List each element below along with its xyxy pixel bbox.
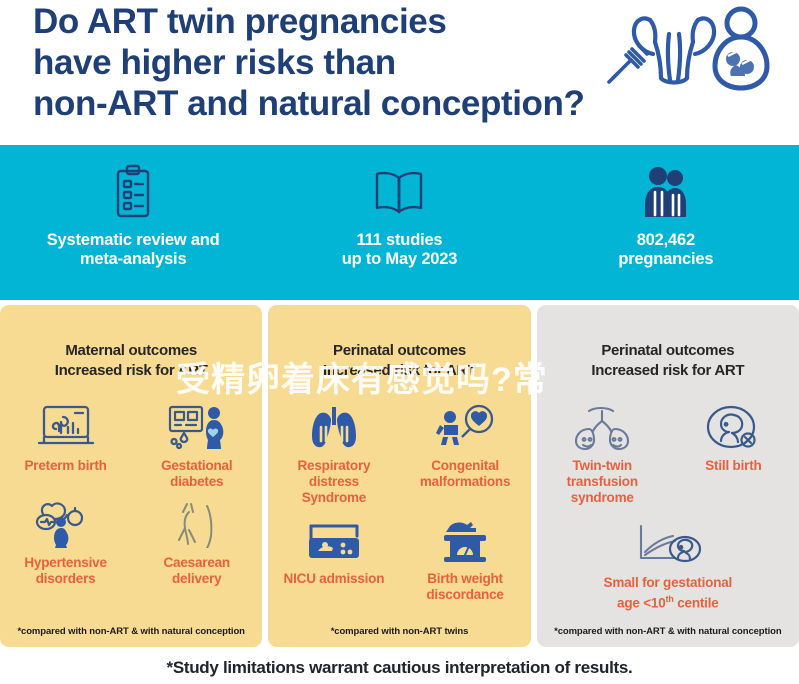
clipboard-checklist-icon	[111, 163, 155, 221]
outcome-label: Small for gestational age <10th centile	[604, 575, 733, 612]
blood-pressure-pregnant-icon	[33, 496, 99, 548]
baby-heart-magnifier-icon	[434, 399, 496, 451]
outcome-label: Birth weight discordance	[426, 571, 503, 603]
header-icon-group	[595, 4, 775, 94]
outcome-label: Respiratory distress Syndrome	[272, 458, 395, 506]
outcome-label: Congenital malformations	[420, 458, 510, 490]
stillbirth-icon	[704, 399, 762, 451]
two-people-icon	[642, 163, 690, 221]
outcome-label: Gestational diabetes	[161, 458, 232, 490]
outcome-label: Preterm birth	[24, 458, 106, 474]
panel-maternal-outcomes: Maternal outcomes Increased risk for ART	[0, 305, 262, 647]
panel-perinatal-outcomes-twins: Perinatal outcomes Increased risk for AR…	[268, 305, 530, 647]
stat-number-of-studies: 111 studies up to May 2023	[266, 145, 532, 269]
growth-chart-fetus-icon	[625, 516, 711, 568]
outcome-item-caesarean-delivery: Caesarean delivery	[131, 496, 262, 587]
outcome-label: Still birth	[705, 458, 761, 474]
outcome-label: Twin-twin transfusion syndrome	[567, 458, 638, 506]
incubator-icon	[303, 512, 365, 564]
stat-label: 802,462 pregnancies	[618, 231, 713, 269]
outcome-item-respiratory-distress: Respiratory distress Syndrome	[268, 399, 399, 506]
stat-label: Systematic review and meta-analysis	[47, 231, 220, 269]
stat-systematic-review: Systematic review and meta-analysis	[0, 145, 266, 269]
outcome-item-small-for-gestational-age: Small for gestational age <10th centile	[537, 516, 799, 612]
twin-fetuses-placenta-icon	[567, 399, 637, 451]
outcome-label: Hypertensive disorders	[24, 555, 106, 587]
study-limitations-note: *Study limitations warrant cautious inte…	[167, 658, 633, 678]
pregnant-woman-silhouette	[206, 407, 223, 449]
open-book-icon	[373, 163, 425, 221]
outcome-item-nicu-admission: NICU admission	[268, 512, 399, 603]
stat-label: 111 studies up to May 2023	[342, 231, 458, 269]
panel-item-grid: Twin-twin transfusion syndrome	[537, 399, 799, 506]
outcome-label: Caesarean delivery	[163, 555, 230, 587]
panel-header: Perinatal outcomes Increased risk for AR…	[323, 341, 476, 381]
header-banner: Do ART twin pregnancies have higher risk…	[0, 0, 799, 145]
outcome-item-congenital-malformations: Congenital malformations	[399, 399, 530, 506]
page-title: Do ART twin pregnancies have higher risk…	[33, 1, 593, 124]
outcome-item-birth-weight-discordance: Birth weight discordance	[399, 512, 530, 603]
glucose-meter-pregnant-icon	[166, 399, 228, 451]
outcome-item-still-birth: Still birth	[668, 399, 799, 506]
outcome-panels: Maternal outcomes Increased risk for ART	[0, 305, 799, 647]
stat-pregnancies-count: 802,462 pregnancies	[533, 145, 799, 269]
panel-footnote: *compared with non-ART & with natural co…	[0, 626, 262, 637]
outcome-item-preterm-birth: Preterm birth	[0, 399, 131, 490]
ultrasound-monitor-icon	[35, 399, 97, 451]
sga-label-sup: th	[666, 594, 674, 604]
panel-item-grid: Respiratory distress Syndrome	[268, 399, 530, 603]
pregnant-woman-twins-icon	[709, 6, 773, 92]
outcome-item-twin-twin-transfusion: Twin-twin transfusion syndrome	[537, 399, 668, 506]
panel-header: Perinatal outcomes Increased risk for AR…	[591, 341, 744, 381]
outcome-item-gestational-diabetes: Gestational diabetes	[131, 399, 262, 490]
panel-header: Maternal outcomes Increased risk for ART	[55, 341, 208, 381]
baby-scale-icon	[436, 512, 494, 564]
panel-footnote: *compared with non-ART & with natural co…	[537, 626, 799, 637]
caesarean-incision-icon	[169, 496, 225, 548]
panel-item-grid: Preterm birth	[0, 399, 262, 587]
lungs-icon	[304, 399, 364, 451]
outcome-item-hypertensive-disorders: Hypertensive disorders	[0, 496, 131, 587]
panel-perinatal-outcomes-general: Perinatal outcomes Increased risk for AR…	[537, 305, 799, 647]
panel-footnote: *compared with non-ART twins	[268, 626, 530, 637]
footer-bar: *Study limitations warrant cautious inte…	[0, 652, 799, 684]
sga-label-suffix: centile	[674, 596, 719, 611]
panel-wide-item-grid: Small for gestational age <10th centile	[537, 516, 799, 612]
outcome-label: NICU admission	[284, 571, 385, 587]
syringe-icon	[609, 46, 647, 82]
study-stats-band: Systematic review and meta-analysis 111 …	[0, 145, 799, 300]
